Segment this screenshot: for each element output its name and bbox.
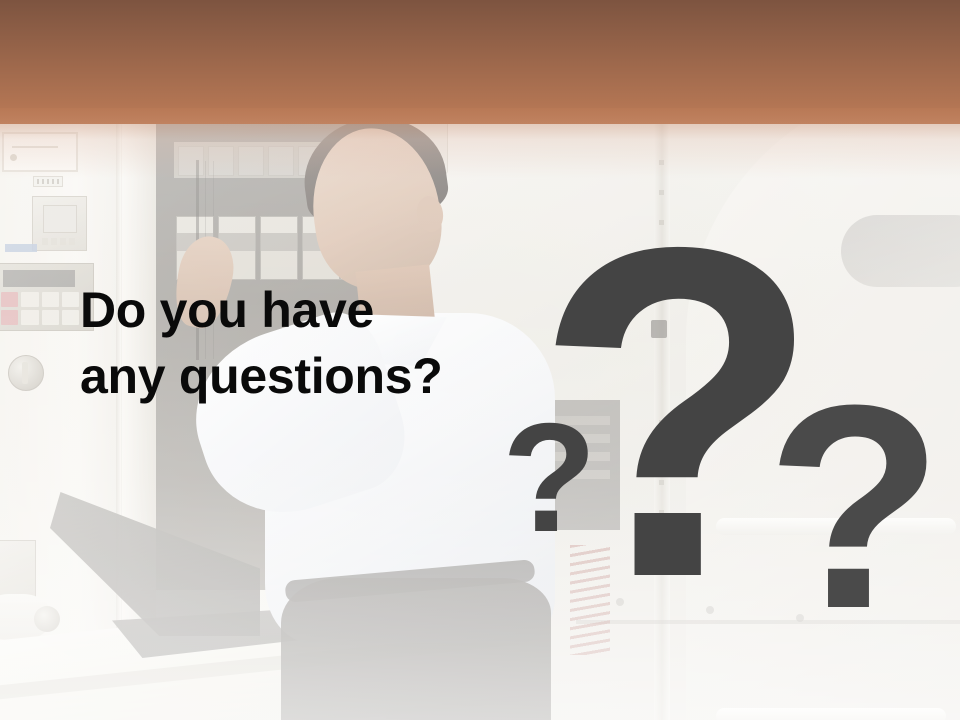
- drive-display: [3, 270, 75, 287]
- meter-screen: [43, 205, 77, 233]
- machine-viewport-window: [841, 215, 960, 287]
- drive-keypad: [1, 292, 79, 325]
- framed-schematic: [2, 132, 78, 172]
- schematic-mark: [10, 154, 17, 161]
- page-title: Do you have any questions?: [80, 277, 443, 409]
- panel-meter-device: [32, 196, 87, 251]
- question-mark-medium: ?: [766, 362, 943, 652]
- rotary-switch-knob: [8, 355, 44, 391]
- slide-canvas: ? ? ? Do you have any questions?: [0, 0, 960, 720]
- top-color-banner: [0, 0, 960, 124]
- manufacturer-label: [5, 244, 37, 252]
- meter-buttons: [42, 238, 77, 245]
- trousers: [281, 578, 551, 720]
- question-mark-small: ?: [502, 400, 597, 555]
- terminal-label-strip: [33, 176, 63, 187]
- fluorescent-tube-lower: [716, 708, 946, 720]
- wall-junction-box: [0, 540, 36, 597]
